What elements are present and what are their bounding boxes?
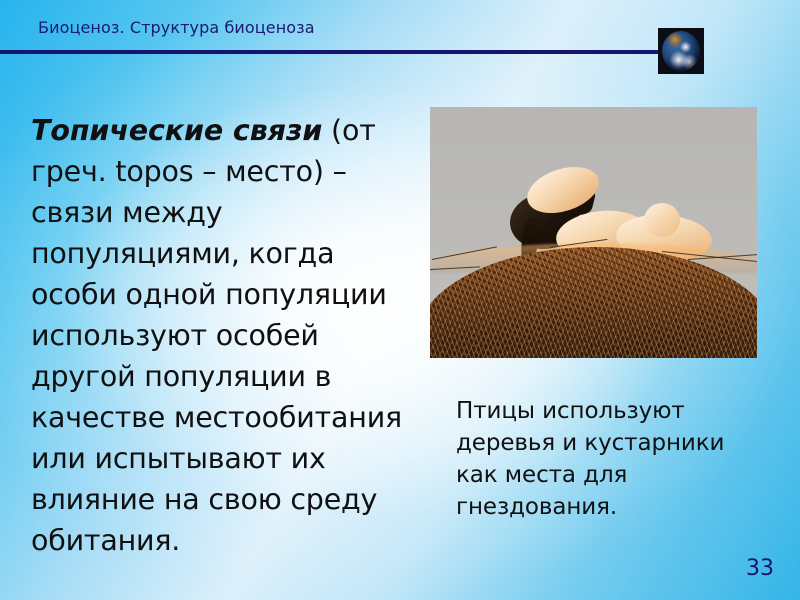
photo-caption: Птицы используют деревья и кустарники ка… [456,395,756,523]
body-definition-text: (от греч. topos – место) – связи между п… [31,114,402,557]
globe-icon [658,28,704,74]
storks-in-nest-photo [430,107,757,358]
globe-icon-sphere [662,31,700,71]
stork-head-right [644,203,680,237]
slide-number: 33 [746,556,774,581]
body-paragraph: Топические связи (от греч. topos – место… [31,110,423,561]
header-divider [0,50,660,54]
body-lead-term: Топические связи [31,114,322,147]
page-title: Биоценоз. Структура биоценоза [38,18,315,37]
slide-canvas: Биоценоз. Структура биоценоза Топические… [0,0,800,600]
